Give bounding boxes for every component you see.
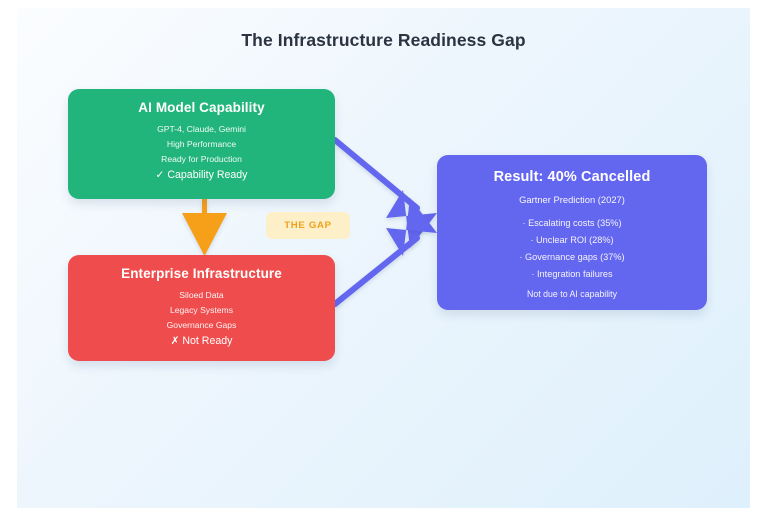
ai-model-capability-card[interactable]: AI Model Capability GPT-4, Claude, Gemin… [68,89,335,199]
enterprise-infrastructure-card[interactable]: Enterprise Infrastructure Siloed Data Le… [68,255,335,361]
infrastructure-line-siloed-data: Siloed Data [68,288,335,303]
result-subtitle: Gartner Prediction (2027) [437,192,707,208]
infrastructure-line-legacy-systems: Legacy Systems [68,303,335,318]
diagram-canvas: The Infrastructure Readiness Gap AI Mode… [17,8,750,508]
result-bullet-unclear-roi: · Unclear ROI (28%) [437,232,707,249]
infrastructure-line-governance-gaps: Governance Gaps [68,318,335,333]
capability-status-badge: ✓ Capability Ready [68,167,335,184]
result-bullet-governance-gaps: · Governance gaps (37%) [437,249,707,266]
result-bullet-escalating-costs: · Escalating costs (35%) [437,215,707,232]
capability-to-result-arrow [335,140,437,248]
result-card[interactable]: Result: 40% Cancelled Gartner Prediction… [437,155,707,310]
gap-arrow-icon [182,198,227,256]
capability-line-performance: High Performance [68,137,335,152]
the-gap-badge: THE GAP [266,212,350,239]
infrastructure-status-badge: ✗ Not Ready [68,333,335,350]
infrastructure-to-result-arrow [335,198,437,304]
capability-line-models: GPT-4, Claude, Gemini [68,122,335,137]
capability-line-production: Ready for Production [68,152,335,167]
result-card-title: Result: 40% Cancelled [437,169,707,186]
result-footnote: Not due to AI capability [437,286,707,302]
capability-card-title: AI Model Capability [68,99,335,116]
infrastructure-card-title: Enterprise Infrastructure [68,265,335,282]
page-title: The Infrastructure Readiness Gap [17,30,750,51]
result-bullet-integration-failures: · Integration failures [437,266,707,283]
